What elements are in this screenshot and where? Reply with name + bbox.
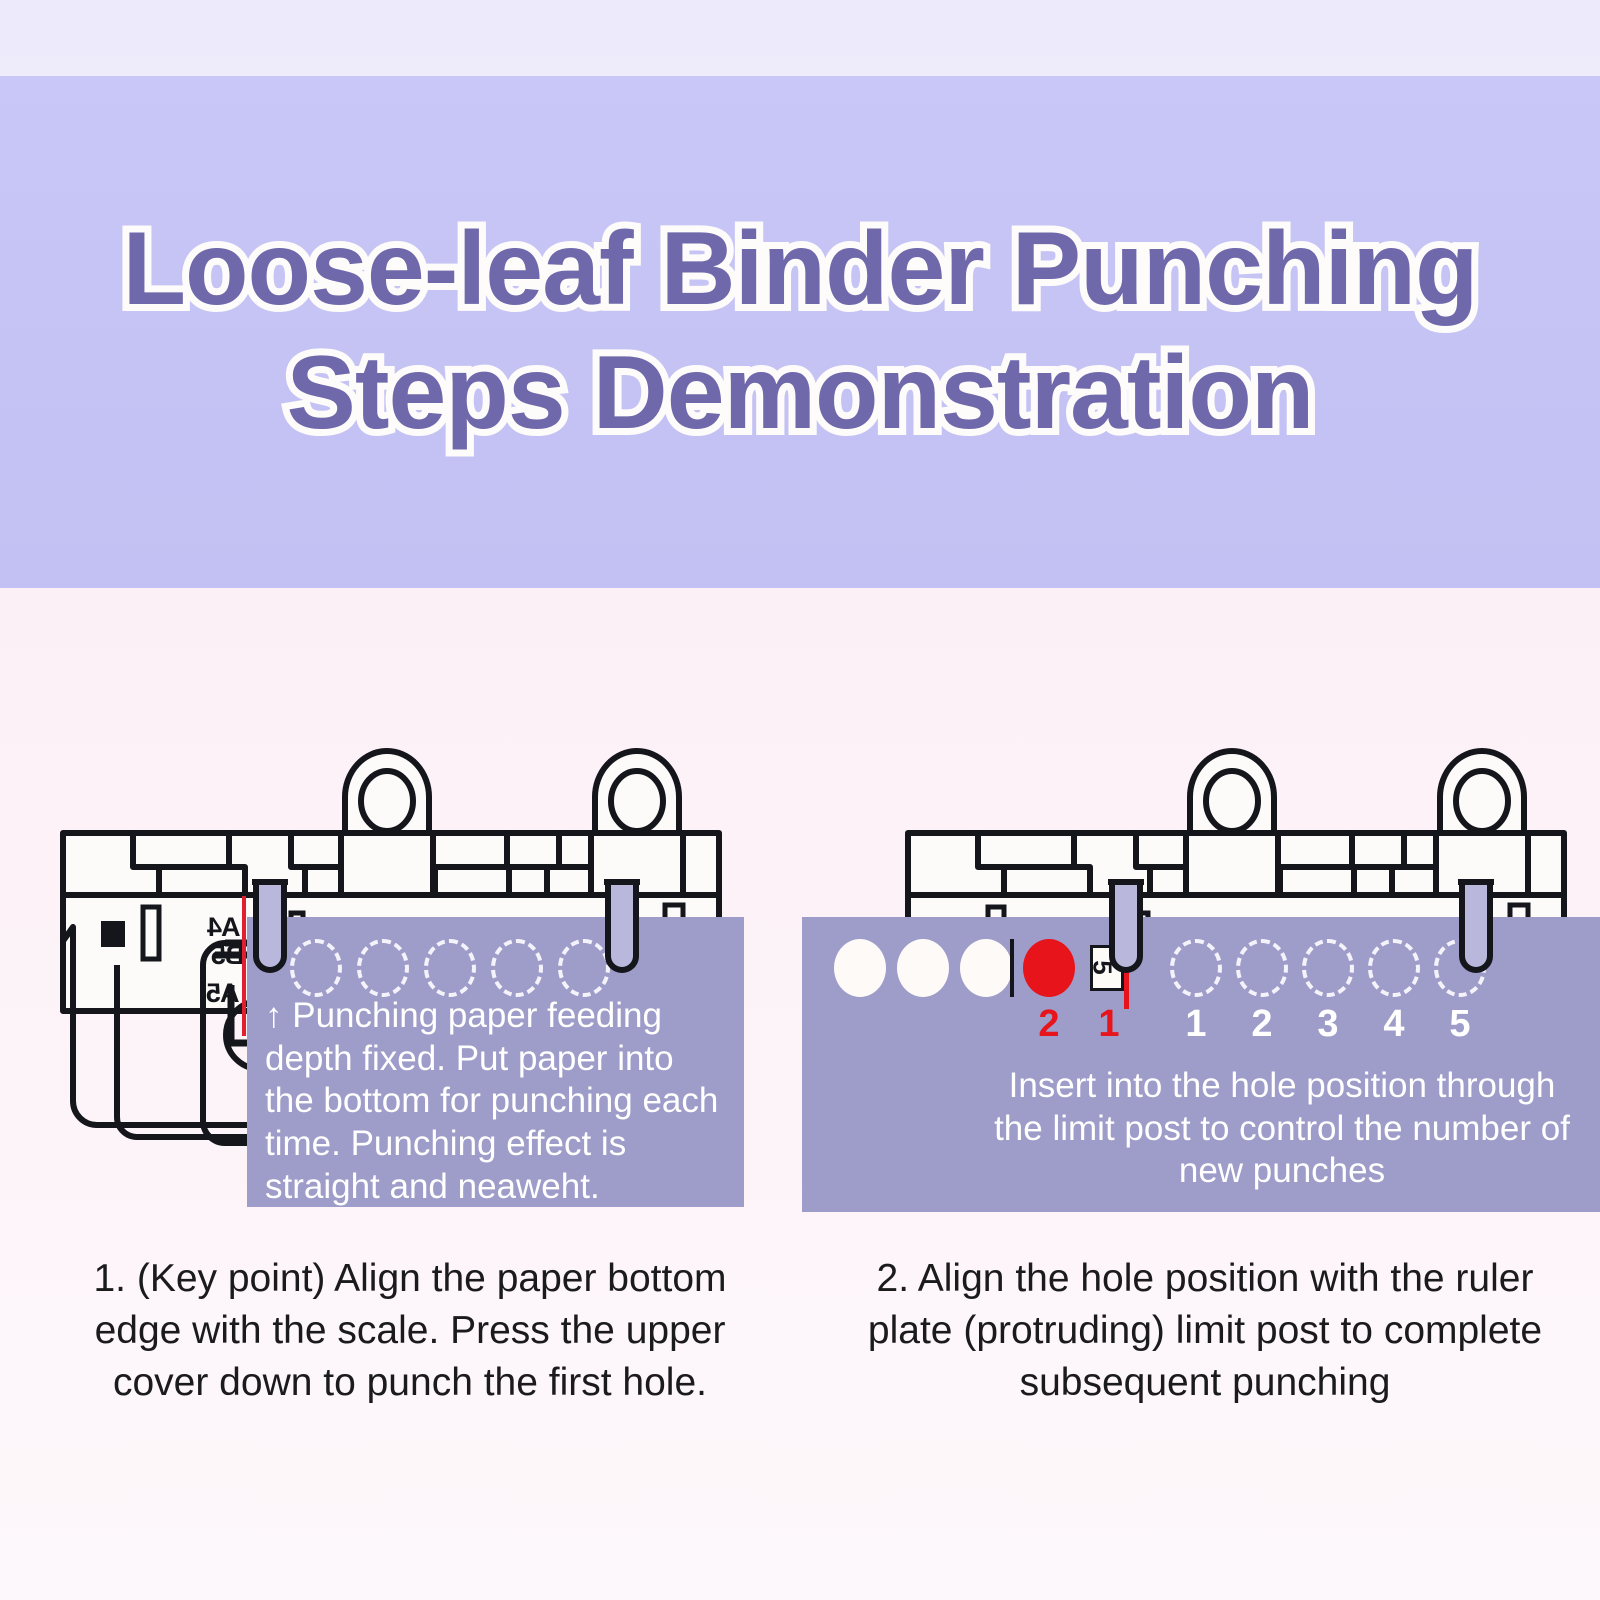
punched-hole — [834, 939, 886, 997]
hole-label-red-2: 2 — [1023, 1003, 1075, 1046]
punch-hole — [1170, 939, 1222, 997]
page-title-line-2: Steps Demonstration — [287, 334, 1314, 454]
paper-size-label-a4: A4 — [208, 912, 241, 943]
limit-post-right-b — [1452, 878, 1502, 988]
paper-size-label-a5: A5 — [207, 978, 240, 1009]
hole-label-2: 2 — [1236, 1003, 1288, 1046]
page-title-line-1: Loose-leaf Binder Punching — [123, 210, 1478, 330]
top-strip — [0, 0, 1600, 76]
limit-post-right-a — [1102, 878, 1152, 988]
paper-size-label-b5: B5 — [212, 940, 245, 971]
step-2-caption: 2. Align the hole position with the rule… — [850, 1253, 1560, 1409]
limit-post-left-b — [598, 878, 648, 988]
punch-hole — [357, 939, 409, 997]
punch-hole — [1236, 939, 1288, 997]
hole-label-3: 3 — [1302, 1003, 1354, 1046]
punch-hole — [491, 939, 543, 997]
current-hole-marker — [1023, 939, 1075, 997]
title-banner: Loose-leaf Binder Punching Steps Demonst… — [0, 76, 1600, 588]
step-1-overlay-text: ↑ Punching paper feeding depth fixed. Pu… — [265, 995, 729, 1208]
punched-hole — [897, 939, 949, 997]
step-1-caption: 1. (Key point) Align the paper bottom ed… — [60, 1253, 760, 1409]
punch-hole — [1302, 939, 1354, 997]
step-1-overlay: ↑ Punching paper feeding depth fixed. Pu… — [247, 917, 744, 1207]
punched-hole-half — [960, 939, 1012, 997]
punch-hole — [290, 939, 342, 997]
hole-label-4: 4 — [1368, 1003, 1420, 1046]
limit-post-left-a — [246, 878, 296, 988]
infographic-page: Loose-leaf Binder Punching Steps Demonst… — [0, 0, 1600, 1600]
punch-hole — [1368, 939, 1420, 997]
hole-label-1: 1 — [1170, 1003, 1222, 1046]
step-2-overlay-text: Insert into the hole position through th… — [982, 1065, 1582, 1193]
hole-label-5: 5 — [1434, 1003, 1486, 1046]
hole-label-red-1: 1 — [1083, 1003, 1135, 1046]
punch-hole — [424, 939, 476, 997]
